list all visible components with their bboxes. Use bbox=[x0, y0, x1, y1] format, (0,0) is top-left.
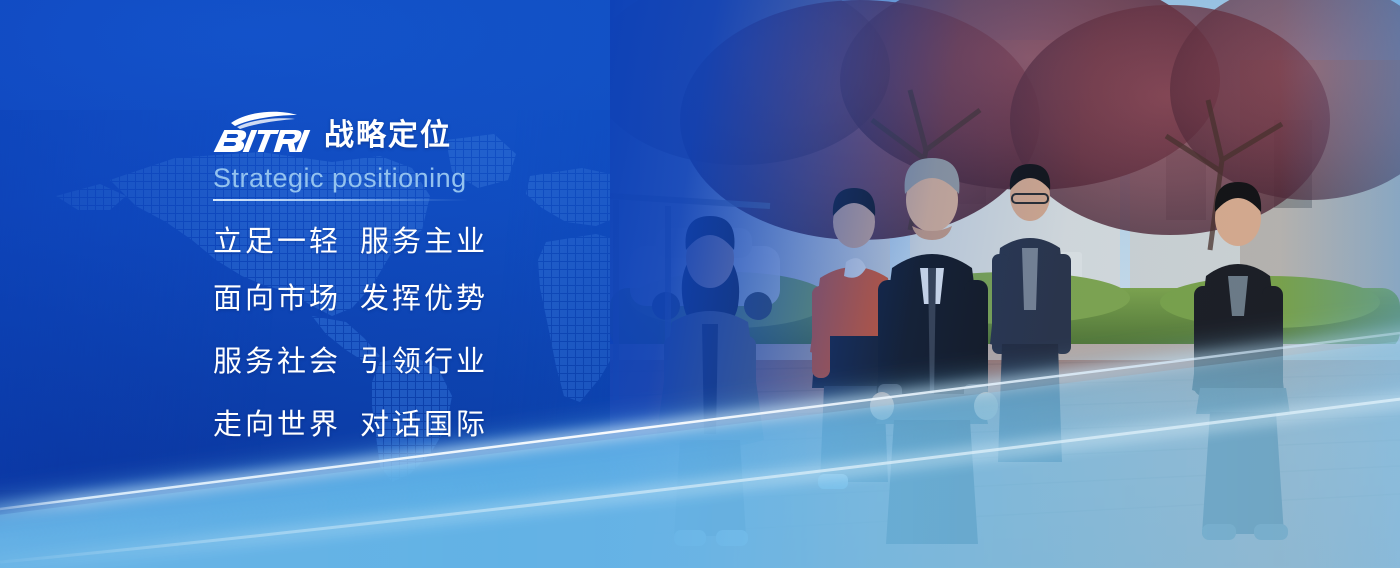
banner-content: 战略定位 Strategic positioning 立足一轻 服务主业 面向市… bbox=[213, 108, 683, 443]
photo-right-glow bbox=[1280, 0, 1400, 568]
slogan-4-right: 对话国际 bbox=[360, 401, 488, 443]
bitri-swoosh-logo bbox=[213, 108, 313, 154]
slogan-line-2: 面向市场 发挥优势 bbox=[213, 275, 683, 317]
slogan-3-left: 服务社会 bbox=[213, 338, 360, 380]
slogan-1-right: 服务主业 bbox=[360, 218, 488, 260]
title-divider bbox=[213, 199, 468, 201]
slogan-3-right: 引领行业 bbox=[360, 338, 488, 380]
leaders-walking-photo bbox=[610, 0, 1400, 568]
slogan-1-left: 立足一轻 bbox=[213, 218, 360, 260]
hero-banner: 战略定位 Strategic positioning 立足一轻 服务主业 面向市… bbox=[0, 0, 1400, 568]
slogan-line-1: 立足一轻 服务主业 bbox=[213, 218, 683, 260]
slogan-2-right: 发挥优势 bbox=[360, 275, 488, 317]
brand-title-cn: 战略定位 bbox=[324, 121, 452, 154]
slogan-line-3: 服务社会 引领行业 bbox=[213, 338, 683, 380]
slogan-2-left: 面向市场 bbox=[213, 275, 360, 317]
slogan-line-4: 走向世界 对话国际 bbox=[213, 401, 683, 443]
brand-subtitle-en: Strategic positioning bbox=[213, 163, 683, 194]
slogan-4-left: 走向世界 bbox=[213, 401, 360, 443]
slogan-list: 立足一轻 服务主业 面向市场 发挥优势 服务社会 引领行业 走向世界 对话国际 bbox=[213, 218, 683, 443]
brand-logo: 战略定位 bbox=[213, 108, 683, 154]
